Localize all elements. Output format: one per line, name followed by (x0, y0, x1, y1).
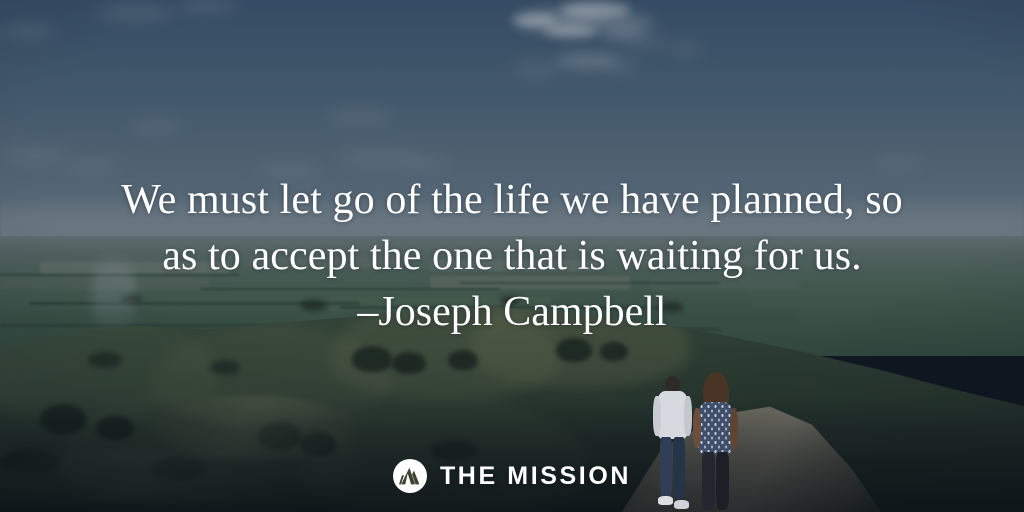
brand-wordmark: THE MISSION (440, 464, 631, 489)
cloud-17 (398, 158, 448, 167)
cloud-18 (0, 150, 70, 160)
cloud-15 (130, 122, 182, 131)
cloud-9 (512, 64, 560, 76)
quote-card: We must let go of the life we have plann… (0, 0, 1024, 512)
cloud-14 (326, 112, 394, 122)
cloud-13 (0, 26, 56, 37)
cloud-11 (96, 6, 174, 20)
mountain-logo-icon (393, 459, 427, 493)
cloud-4 (544, 24, 598, 37)
blouse-pattern (698, 402, 733, 454)
cloud-19 (62, 162, 120, 171)
quote-block: We must let go of the life we have plann… (0, 172, 1024, 340)
quote-line-1: We must let go of the life we have plann… (34, 172, 990, 228)
quote-attribution: –Joseph Campbell (34, 284, 990, 340)
brand-logo[interactable]: THE MISSION (0, 459, 1024, 493)
quote-line-2: as to accept the one that is waiting for… (34, 228, 990, 284)
cloud-6 (628, 36, 668, 47)
cloud-10 (668, 44, 702, 54)
cloud-21 (876, 158, 920, 166)
cloud-12 (176, 0, 238, 12)
cloud-8 (600, 60, 640, 71)
